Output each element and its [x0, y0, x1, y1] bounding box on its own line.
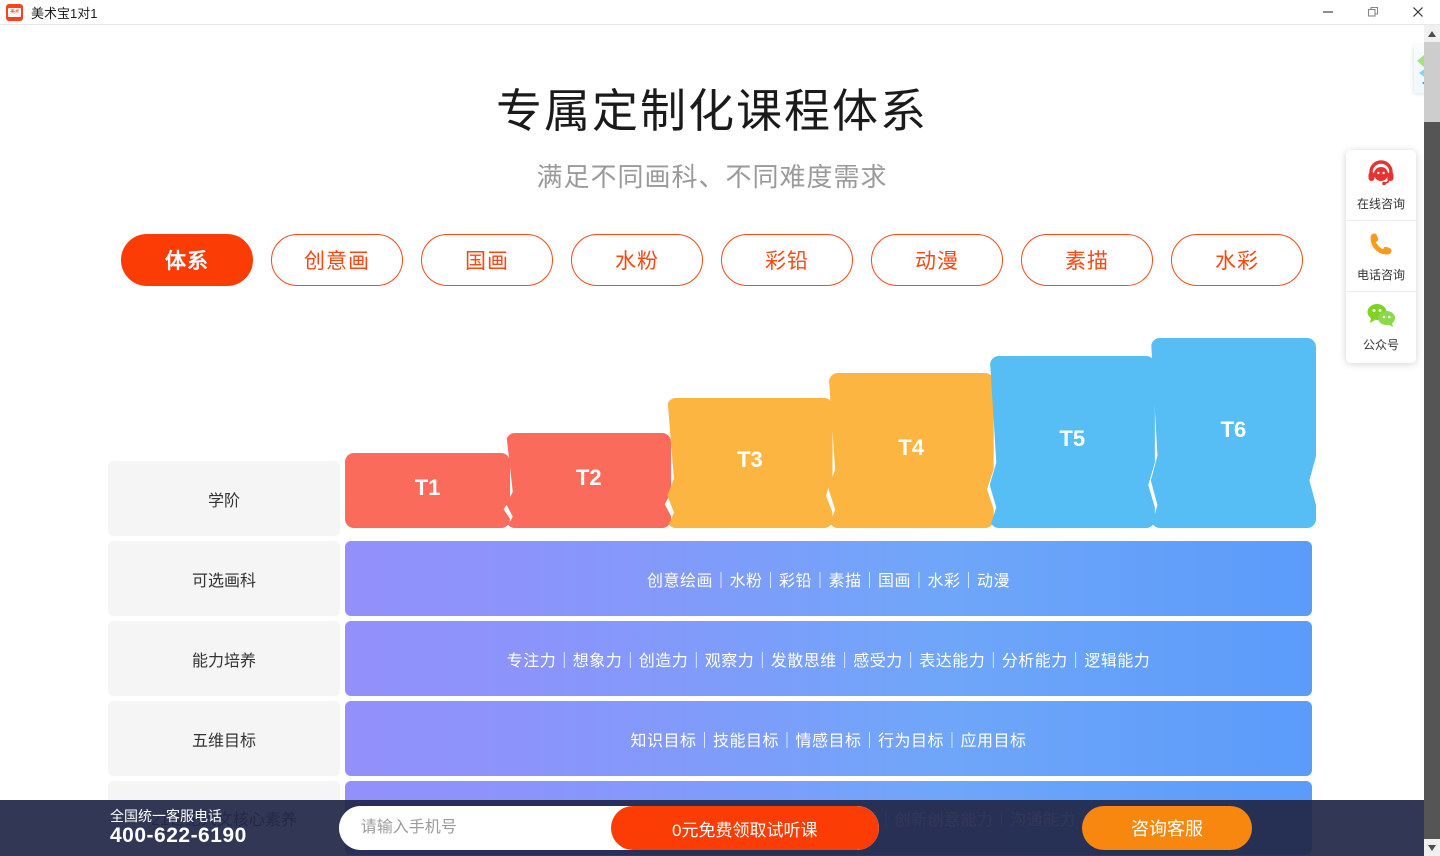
scroll-up-icon[interactable] — [1424, 25, 1440, 42]
stair-label: T4 — [898, 434, 924, 460]
stair-block-t4[interactable]: T4 — [829, 373, 994, 528]
stair-block-t2[interactable]: T2 — [506, 433, 671, 528]
table-row: 能力培养 专注力｜想象力｜创造力｜观察力｜发散思维｜感受力｜表达能力｜分析能力｜… — [108, 621, 1312, 696]
page-title: 专属定制化课程体系 — [0, 75, 1424, 141]
row-body-goals: 知识目标｜技能目标｜情感目标｜行为目标｜应用目标 — [345, 701, 1312, 776]
phone-icon — [1367, 230, 1395, 263]
tab-caiqian[interactable]: 彩铅 — [721, 234, 853, 286]
window-title: 美术宝1对1 — [31, 3, 97, 22]
category-tabs: 体系 创意画 国画 水粉 彩铅 动漫 素描 水彩 — [0, 234, 1424, 286]
sidebar-item-wechat[interactable]: 公众号 — [1346, 292, 1416, 363]
row-label-abilities: 能力培养 — [108, 621, 340, 696]
stair-label: T1 — [415, 474, 441, 500]
footer-cta-bar: 全国统一客服电话 400-622-6190 0元免费领取试听课 咨询客服 — [0, 800, 1424, 856]
stair-block-t3[interactable]: T3 — [667, 398, 832, 528]
row-label-subjects: 可选画科 — [108, 541, 340, 616]
lead-capture-form: 0元免费领取试听课 — [339, 806, 879, 850]
stair-block-t5[interactable]: T5 — [990, 356, 1155, 528]
stair-block-t6[interactable]: T6 — [1151, 338, 1316, 528]
stair-label: T3 — [737, 447, 763, 473]
hotline-number: 400-622-6190 — [110, 824, 247, 848]
table-row: 五维目标 知识目标｜技能目标｜情感目标｜行为目标｜应用目标 — [108, 701, 1312, 776]
headset-icon — [1366, 159, 1396, 192]
table-row: 可选画科 创意绘画｜水粉｜彩铅｜素描｜国画｜水彩｜动漫 — [108, 541, 1312, 616]
hotline-label: 全国统一客服电话 — [110, 808, 247, 824]
close-icon[interactable] — [1395, 0, 1440, 25]
tab-sumiao[interactable]: 素描 — [1021, 234, 1153, 286]
row-body-abilities: 专注力｜想象力｜创造力｜观察力｜发散思维｜感受力｜表达能力｜分析能力｜逻辑能力 — [345, 621, 1312, 696]
free-trial-button[interactable]: 0元免费领取试听课 — [611, 806, 879, 850]
window-controls — [1305, 0, 1440, 25]
row-label-goals: 五维目标 — [108, 701, 340, 776]
page-subtitle: 满足不同画科、不同难度需求 — [0, 157, 1424, 194]
app-logo-icon: 美术宝 — [6, 4, 23, 21]
tab-tixi[interactable]: 体系 — [121, 234, 253, 286]
minimize-icon[interactable] — [1305, 0, 1350, 25]
sidebar-item-online-consult[interactable]: 在线咨询 — [1346, 150, 1416, 221]
sidebar-label-wechat: 公众号 — [1363, 336, 1399, 353]
page-scrollbar[interactable] — [1424, 25, 1440, 856]
tab-chuangyihua[interactable]: 创意画 — [271, 234, 403, 286]
row-body-subjects: 创意绘画｜水粉｜彩铅｜素描｜国画｜水彩｜动漫 — [345, 541, 1312, 616]
stair-label: T2 — [576, 464, 602, 490]
row-label-stage: 学阶 — [108, 461, 340, 536]
floating-contact-widget: 在线咨询 电话咨询 公众号 — [1346, 150, 1416, 363]
sidebar-label-online-consult: 在线咨询 — [1357, 195, 1405, 212]
scroll-down-icon[interactable] — [1424, 839, 1440, 856]
stair-block-t1[interactable]: T1 — [345, 453, 510, 528]
phone-input[interactable] — [339, 806, 611, 850]
tab-shuifen[interactable]: 水粉 — [571, 234, 703, 286]
scrollbar-thumb[interactable] — [1424, 42, 1440, 122]
stair-label: T6 — [1221, 417, 1247, 443]
tab-dongman[interactable]: 动漫 — [871, 234, 1003, 286]
tab-shuicai[interactable]: 水彩 — [1171, 234, 1303, 286]
sidebar-item-phone-consult[interactable]: 电话咨询 — [1346, 221, 1416, 292]
contact-service-button[interactable]: 咨询客服 — [1082, 806, 1252, 850]
footer-hotline: 全国统一客服电话 400-622-6190 — [110, 808, 247, 848]
scrollbar-track[interactable] — [1424, 122, 1440, 839]
tab-guohua[interactable]: 国画 — [421, 234, 553, 286]
restore-icon[interactable] — [1350, 0, 1395, 25]
sidebar-label-phone-consult: 电话咨询 — [1357, 266, 1405, 283]
page-content: 专属定制化课程体系 满足不同画科、不同难度需求 体系 创意画 国画 水粉 彩铅 … — [0, 25, 1424, 856]
stair-label: T5 — [1059, 426, 1085, 452]
wechat-icon — [1366, 302, 1396, 333]
window-titlebar: 美术宝 美术宝1对1 — [0, 0, 1440, 25]
